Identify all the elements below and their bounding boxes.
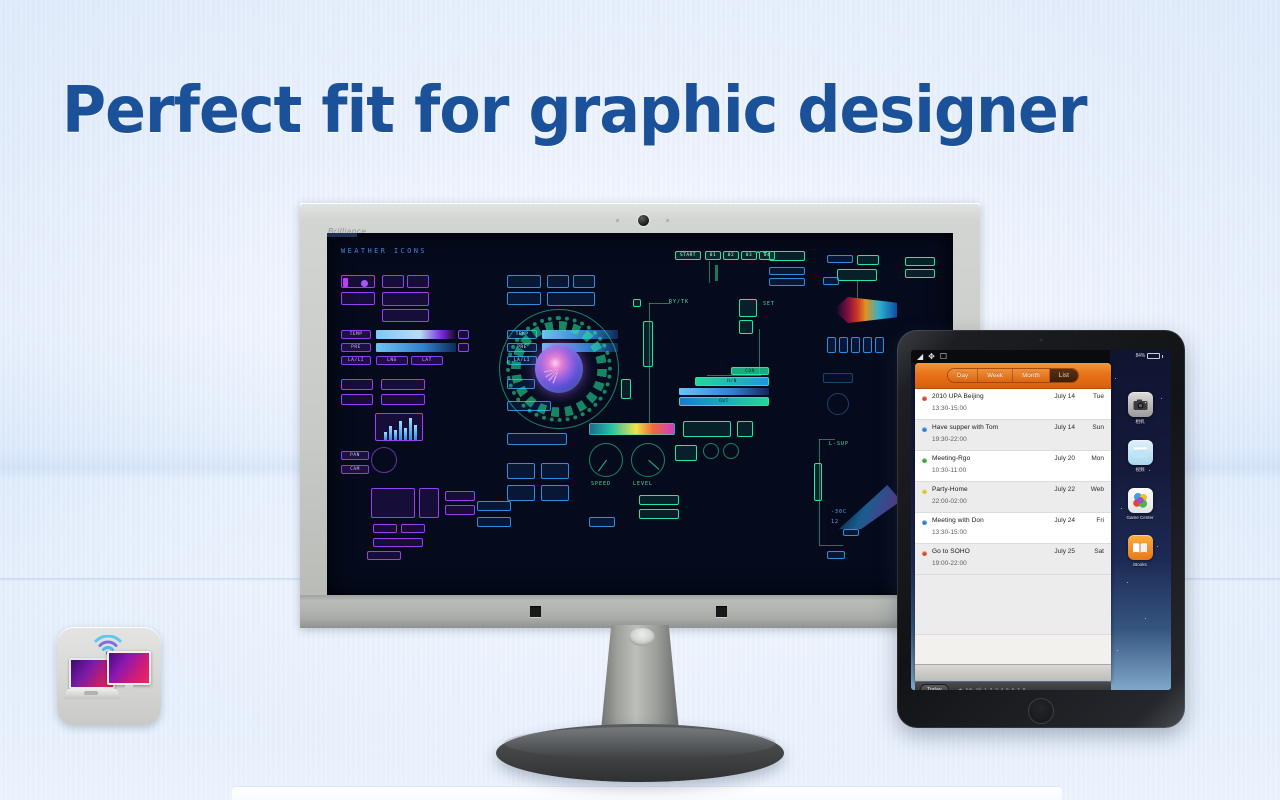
hud-tag (343, 278, 348, 287)
hud-button (458, 330, 469, 339)
hud-icon-box (905, 257, 935, 266)
hud-icon-box (373, 538, 423, 547)
hud-icon-box (769, 267, 805, 275)
hud-rail (621, 379, 631, 399)
sync-icon: ☐ (940, 353, 947, 361)
hud-chart-bar (399, 421, 402, 440)
hud-icon-box (341, 379, 373, 390)
event-day: Mon (1091, 455, 1104, 462)
scrubber-month-jun[interactable]: Jun (965, 687, 972, 690)
battery-tip (1162, 355, 1163, 358)
tablet-status-bar: ◢ ✥ ☐ (911, 350, 1110, 363)
app-videos[interactable]: 视频 (1117, 440, 1163, 473)
view-segmented-control[interactable]: Day Week Month List (947, 368, 1079, 383)
tab-day[interactable]: Day (948, 369, 978, 382)
hud-icon-box (675, 445, 697, 461)
hud-matrix-box (683, 421, 731, 437)
hud-spacer (757, 251, 759, 253)
event-color-dot (922, 458, 927, 463)
event-title: Meeting-Rgo (932, 455, 970, 462)
hud-icon-box (367, 551, 401, 560)
hud-wire (649, 303, 671, 304)
hud-icon-box (445, 505, 475, 515)
hud-chart-bar (414, 425, 417, 440)
app-label: Game Center (1126, 515, 1153, 520)
list-item[interactable]: Meeting-Rgo 10:30-11:00 July 20 Mon (915, 451, 1111, 482)
laptop-trackpad (84, 691, 98, 695)
hud-pill-temp: TEMP (341, 330, 371, 339)
hud-icon-box (381, 394, 425, 405)
event-time: 22:00-02:00 (932, 498, 967, 505)
monitor-chin: Philips (300, 595, 980, 628)
hud-spacer (765, 251, 767, 253)
app-label: 视频 (1136, 467, 1145, 473)
list-item[interactable]: Have supper with Tom 19:30-22:00 July 14… (915, 420, 1111, 451)
event-date: July 22 (1054, 486, 1075, 493)
hud-icon-box (541, 463, 569, 479)
hud-readout: -30C (831, 509, 847, 515)
hud-label-speed: SPEED (591, 481, 611, 487)
hud-gauge (631, 443, 665, 477)
bubbles-glyph (1132, 492, 1149, 509)
tab-list[interactable]: List (1050, 369, 1078, 382)
scrubber-month-jul[interactable]: Jul (975, 687, 981, 690)
hud-icon-box (837, 269, 877, 281)
calendar-toolbar: Day Week Month List (915, 363, 1111, 389)
hud-label-set: SET (763, 301, 775, 307)
webcam-icon (638, 215, 649, 226)
app-label: iBooks (1133, 562, 1147, 567)
hud-subtitle-bar (327, 233, 357, 237)
list-item[interactable]: 2010 UPA Beijing 13:30-15:00 July 14 Tue (915, 389, 1111, 420)
hud-icon-box (507, 275, 541, 288)
tablet-app-dock: 相机 视频 (1117, 392, 1163, 582)
hud-icon-box (341, 275, 375, 288)
hud-icon-box (401, 524, 425, 533)
event-time: 19:30-22:00 (932, 436, 967, 443)
hud-icon-box (381, 379, 425, 390)
hud-icon-box (639, 495, 679, 505)
event-day: Fri (1096, 517, 1104, 524)
hud-icon-box (547, 292, 595, 306)
event-title: 2010 UPA Beijing (932, 393, 984, 400)
hud-icon-box (507, 463, 535, 479)
today-button[interactable]: Today (920, 684, 949, 690)
hud-pill-hn: H/N (695, 377, 769, 386)
hud-icon-box (839, 337, 848, 353)
hud-label-rytk: RY/TK (669, 299, 689, 305)
hud-pill-con: CON (731, 367, 769, 375)
hud-icon-box (477, 501, 511, 511)
hud-icon-box[interactable] (737, 421, 753, 437)
list-item[interactable]: Party-Home 22:00-02:00 July 22 Web (915, 482, 1111, 513)
hud-beam-graphic (839, 485, 901, 529)
event-date: July 25 (1054, 548, 1075, 555)
event-day: Sun (1092, 424, 1104, 431)
hud-wire (715, 265, 718, 281)
hud-icon-box (382, 309, 429, 322)
hud-chart-box (375, 413, 423, 441)
hud-icon-box (541, 485, 569, 501)
hud-pill-start[interactable]: START (675, 251, 701, 260)
hud-icon-box (769, 278, 805, 286)
video-icon[interactable] (1128, 440, 1153, 465)
monitor-bezel: Brilliance WEATHER ICONS TEMP PRE LA (300, 203, 980, 628)
star (1115, 378, 1116, 379)
app-game-center[interactable]: Game Center (1117, 488, 1163, 520)
hud-icon-box (851, 337, 860, 353)
hud-gauge (589, 443, 623, 477)
desktop-monitor: Brilliance WEATHER ICONS TEMP PRE LA (300, 203, 980, 748)
hud-bar-temp (376, 330, 456, 339)
list-item[interactable]: Meeting with Don 13:30-15:00 July 24 Fri (915, 513, 1111, 544)
hud-mini-gauge (703, 443, 719, 459)
event-list: 2010 UPA Beijing 13:30-15:00 July 14 Tue… (915, 389, 1111, 635)
star (1117, 650, 1118, 651)
monitor-sensor-dot-right (666, 219, 669, 222)
battery-icon (1147, 353, 1160, 359)
hud-button (458, 343, 469, 352)
event-time: 10:30-11:00 (932, 467, 966, 474)
hud-gauge (827, 393, 849, 415)
event-date: July 14 (1054, 424, 1075, 431)
monitor-stand-cable-hole (629, 628, 655, 646)
hud-chart-bar (389, 426, 392, 440)
calendar-app: Day Week Month List 2010 UPA Beijing 13:… (915, 363, 1111, 681)
hud-icon-box (371, 488, 415, 518)
scrubber-day-2[interactable]: 2 (990, 687, 993, 690)
monitor-button-power[interactable] (716, 606, 727, 617)
hud-pill-out: OUT (679, 397, 769, 406)
hud-icon-box (827, 551, 845, 559)
hud-icon-box (382, 275, 404, 288)
app-label: 相机 (1136, 419, 1145, 425)
hud-icon-box (823, 373, 853, 383)
hud-icon-box (905, 269, 935, 278)
open-book-glyph (1132, 542, 1148, 554)
event-date: July 14 (1054, 393, 1075, 400)
hud-pill-03[interactable]: 03 (741, 251, 757, 260)
radial-core-glow (535, 345, 583, 393)
hud-label-lsup: L-SUP (829, 441, 849, 447)
monitor-button-menu[interactable] (530, 606, 541, 617)
scrubber-day-4[interactable]: 4 (1001, 687, 1004, 690)
hud-chart-bar (404, 428, 407, 440)
bottom-panel (232, 786, 1062, 800)
hud-label-level: LEVEL (633, 481, 653, 487)
hud-bar-pre (376, 343, 456, 352)
hud-icon-box (477, 517, 511, 527)
app-ibooks[interactable]: iBooks (1117, 535, 1163, 567)
screen-mirroring-app-icon[interactable] (57, 627, 161, 725)
hud-radial-dial (499, 309, 619, 429)
scrubber-day-5[interactable]: 5 (1006, 687, 1009, 690)
event-color-dot (922, 551, 927, 556)
calendar-bottom-strip (915, 664, 1111, 681)
event-color-dot (922, 520, 927, 525)
battery-percent-label: 84% (1136, 353, 1145, 359)
star (1127, 582, 1128, 583)
hud-icon-box (823, 277, 839, 285)
event-time: 19:00-22:00 (932, 560, 967, 567)
event-day: Tue (1093, 393, 1104, 400)
tab-month[interactable]: Month (1013, 369, 1050, 382)
hud-rail (643, 321, 653, 367)
hud-icon-box (507, 433, 567, 445)
calendar-footer-toolbar: Today ◄ Jun Jul 1 2 3 4 5 6 7 8 (915, 682, 1111, 690)
hud-spectrum-bar (589, 423, 675, 435)
scrubber-day-6[interactable]: 6 (1012, 687, 1015, 690)
books-icon[interactable] (1128, 535, 1153, 560)
app-camera[interactable]: 相机 (1117, 392, 1163, 425)
event-title: Go to SOHO (932, 548, 970, 555)
event-day: Web (1091, 486, 1104, 493)
hud-pill-lali: LA/LI (341, 356, 371, 365)
event-time: 13:30-15:00 (932, 405, 967, 412)
battery-status: 84% (1136, 353, 1163, 359)
hud-wire (709, 261, 710, 283)
tab-week[interactable]: Week (978, 369, 1013, 382)
hud-icon-box (341, 292, 375, 305)
hud-prism-graphic (837, 297, 897, 323)
clapperboard-glyph (1132, 447, 1148, 458)
camera-icon[interactable] (1128, 392, 1153, 417)
event-title: Have supper with Tom (932, 424, 998, 431)
monitor-screen: WEATHER ICONS TEMP PRE LA/LI LNG LAT (327, 233, 953, 595)
hud-icon-box (875, 337, 884, 353)
event-date: July 24 (1054, 517, 1075, 524)
hud-add-box[interactable] (739, 320, 753, 334)
event-date: July 20 (1054, 455, 1075, 462)
tablet-front-camera-icon (1039, 338, 1043, 342)
tablet-screen: ◢ ✥ ☐ 84% Day Week Month List 20 (911, 350, 1171, 690)
monitor-stand-thumbnail (125, 685, 133, 689)
hud-pill-lat: LAT (411, 356, 443, 365)
monitor-base-highlight (504, 727, 776, 759)
hud-pill-01[interactable]: 01 (705, 251, 721, 260)
hud-chart-bar (384, 432, 387, 440)
hud-pill-lng: LNG (376, 356, 408, 365)
bluetooth-icon: ✥ (928, 353, 935, 361)
hud-icon-box (827, 337, 836, 353)
scrubber-day-1[interactable]: 1 (984, 687, 987, 690)
hud-mini-gauge (723, 443, 739, 459)
hud-close-box[interactable] (739, 299, 757, 317)
gauge-needle (648, 460, 659, 470)
hud-readout: 12 (831, 519, 839, 525)
hud-wire (819, 439, 835, 440)
monitor-sensor-dot-left (616, 219, 619, 222)
hud-dot (361, 280, 368, 287)
hud-icon-box (639, 509, 679, 519)
event-color-dot (922, 396, 927, 401)
hud-rail (814, 463, 822, 501)
gauge-needle (598, 460, 607, 472)
event-color-dot (922, 427, 927, 432)
scrubber-arrow-icon[interactable]: ◄ (958, 687, 962, 690)
hud-chart-bar (409, 418, 412, 440)
hud-icon-box (843, 529, 859, 536)
hud-icon-box (507, 485, 535, 501)
star (1145, 618, 1146, 619)
hud-icon-box (373, 524, 397, 533)
hud-pill-pre: PRE (341, 343, 371, 352)
hud-pill-02[interactable]: 02 (723, 251, 739, 260)
hud-section-title: WEATHER ICONS (341, 247, 427, 255)
hud-icon-box (419, 488, 439, 518)
hud-icon-box (863, 337, 872, 353)
event-title: Party-Home (932, 486, 968, 493)
scrubber-day-8[interactable]: 8 (1023, 687, 1026, 690)
event-day: Sat (1094, 548, 1104, 555)
wifi-icon: ◢ (917, 353, 923, 361)
event-list-empty-area (915, 575, 1111, 635)
hud-icon-box (507, 292, 541, 305)
camera-glyph (1133, 399, 1148, 411)
hud-icon-box (547, 275, 569, 288)
hud-icon-box (445, 491, 475, 501)
hud-pill-pan: PAN (341, 451, 369, 460)
hud-icon-box (857, 255, 879, 265)
hud-spacer (763, 251, 765, 253)
hud-chart-bar (394, 430, 397, 440)
event-time: 13:30-15:00 (932, 529, 967, 536)
scrubber-day-7[interactable]: 7 (1017, 687, 1020, 690)
monitor-screen-thumbnail (107, 651, 151, 685)
tablet-home-button[interactable] (1028, 698, 1054, 724)
hud-wire (707, 375, 761, 376)
hud-icon-box (827, 255, 853, 263)
event-color-dot (922, 489, 927, 494)
hud-marker (633, 299, 641, 307)
list-item[interactable]: Go to SOHO 19:00-22:00 July 25 Sat (915, 544, 1111, 575)
hud-icon-box (589, 517, 615, 527)
hud-pill-cam: CAM (341, 465, 369, 474)
date-scrubber[interactable]: ◄ Jun Jul 1 2 3 4 5 6 7 8 (954, 687, 1106, 690)
event-title: Meeting with Don (932, 517, 984, 524)
hud-icon-box (341, 394, 373, 405)
hud-icon-box (407, 275, 429, 288)
hud-icon-box (573, 275, 595, 288)
hud-gauge (371, 447, 397, 473)
hud-icon-box (769, 251, 805, 261)
hud-bar (679, 388, 769, 395)
hud-wire (819, 545, 843, 546)
scrubber-day-3[interactable]: 3 (995, 687, 998, 690)
hud-icon-box (382, 292, 429, 306)
game-center-icon[interactable] (1128, 488, 1153, 513)
page-title: Perfect fit for graphic designer (62, 74, 1087, 148)
tablet-device: ◢ ✥ ☐ 84% Day Week Month List 20 (897, 330, 1185, 728)
